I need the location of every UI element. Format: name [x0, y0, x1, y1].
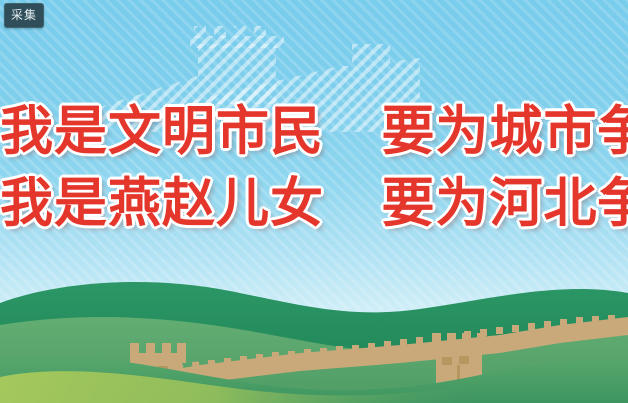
slogan-line-2-right: 要为河北争气	[381, 174, 628, 233]
slogan-line-2: 我是燕赵儿女 要为河北争气	[0, 168, 628, 240]
landscape-illustration	[0, 273, 628, 403]
slogan-line-1-right: 要为城市争光	[381, 102, 628, 161]
slogan-line-1: 我是文明市民 要为城市争光	[0, 96, 628, 168]
slogan-block: 我是文明市民 要为城市争光 我是燕赵儿女 要为河北争气	[0, 96, 628, 240]
capture-button[interactable]: 采集	[4, 3, 44, 28]
slogan-line-2-left: 我是燕赵儿女	[0, 174, 324, 233]
banner-image: 我是文明市民 要为城市争光 我是燕赵儿女 要为河北争气	[0, 0, 628, 403]
slogan-line-1-left: 我是文明市民	[0, 102, 324, 161]
